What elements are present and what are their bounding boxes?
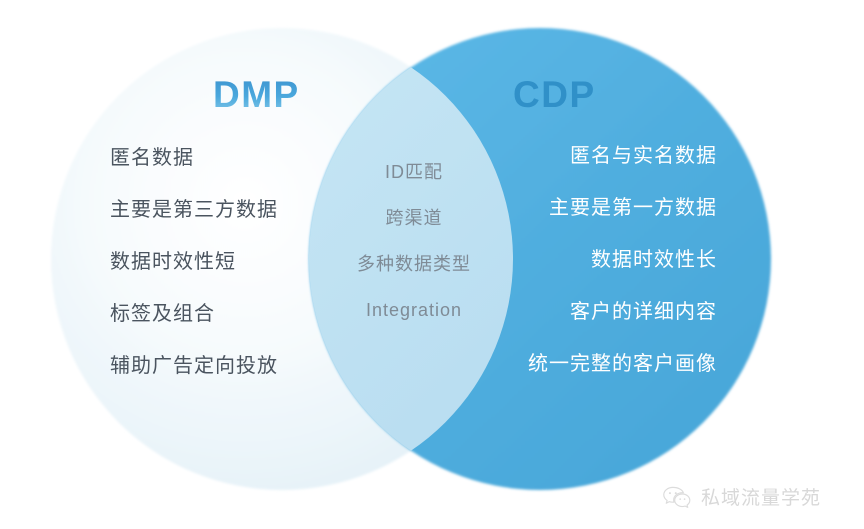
venn-diagram-canvas: DMP CDP 匿名数据 主要是第三方数据 数据时效性短 标签及组合 辅助广告定… bbox=[0, 0, 864, 529]
cdp-item: 客户的详细内容 bbox=[570, 302, 717, 322]
wechat-icon bbox=[662, 484, 692, 510]
intersection-item: 多种数据类型 bbox=[357, 255, 471, 273]
intersection-item: Integration bbox=[366, 301, 462, 319]
cdp-item: 统一完整的客户画像 bbox=[528, 354, 717, 374]
watermark-label: 私域流量学苑 bbox=[701, 483, 821, 510]
intersection-item-list: ID匹配 跨渠道 多种数据类型 Integration bbox=[340, 163, 488, 347]
dmp-item: 标签及组合 bbox=[110, 304, 215, 324]
intersection-item: ID匹配 bbox=[385, 163, 443, 181]
dmp-item: 主要是第三方数据 bbox=[110, 200, 278, 220]
dmp-title: DMP bbox=[213, 76, 300, 113]
cdp-item-list: 匿名与实名数据 主要是第一方数据 数据时效性长 客户的详细内容 统一完整的客户画… bbox=[499, 146, 717, 406]
dmp-item: 匿名数据 bbox=[110, 148, 194, 168]
dmp-item: 数据时效性短 bbox=[110, 252, 236, 272]
cdp-item: 匿名与实名数据 bbox=[570, 146, 717, 166]
intersection-item: 跨渠道 bbox=[386, 209, 443, 227]
cdp-item: 数据时效性长 bbox=[591, 250, 717, 270]
dmp-item: 辅助广告定向投放 bbox=[110, 356, 278, 376]
watermark: 私域流量学苑 bbox=[662, 483, 821, 510]
dmp-item-list: 匿名数据 主要是第三方数据 数据时效性短 标签及组合 辅助广告定向投放 bbox=[110, 148, 278, 408]
cdp-title: CDP bbox=[513, 76, 596, 113]
cdp-item: 主要是第一方数据 bbox=[549, 198, 717, 218]
